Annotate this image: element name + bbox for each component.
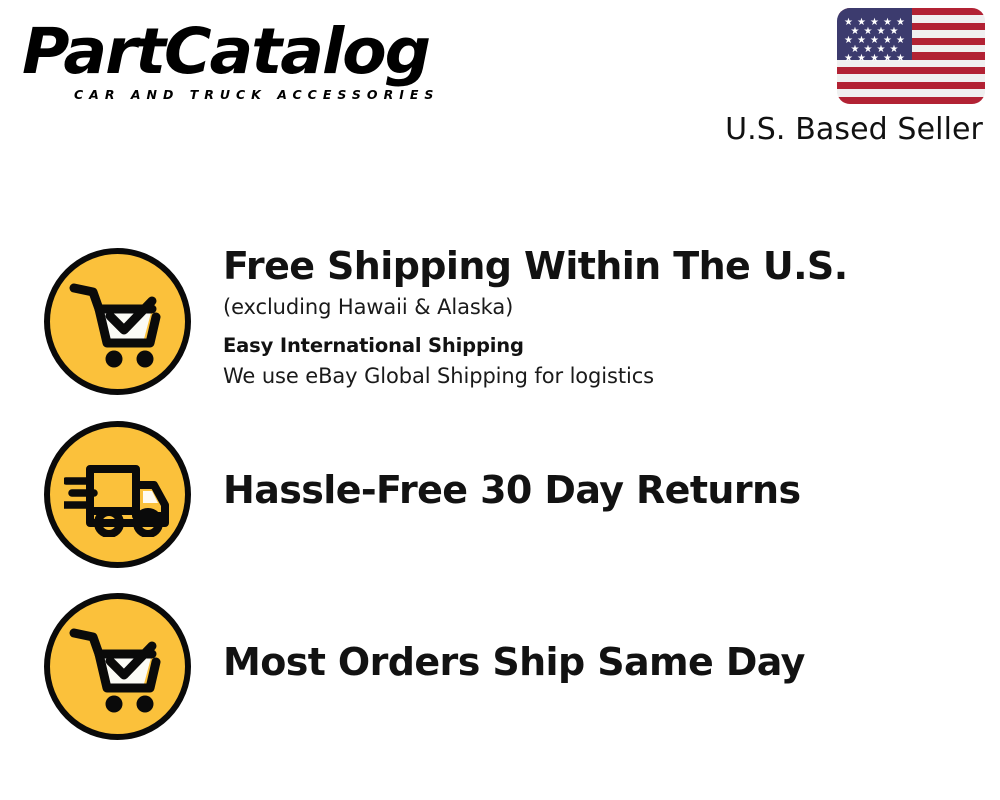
- feature-text-block: Hassle-Free 30 Day Returns: [223, 468, 983, 512]
- feature-title: Free Shipping Within The U.S.: [223, 244, 983, 288]
- feature-note: (excluding Hawaii & Alaska): [223, 292, 983, 322]
- shopping-cart-check-icon: [44, 248, 191, 395]
- feature-text-block: Free Shipping Within The U.S. (excluding…: [223, 244, 983, 391]
- feature-text-block: Most Orders Ship Same Day: [223, 640, 983, 684]
- delivery-truck-icon: [44, 421, 191, 568]
- feature-title: Most Orders Ship Same Day: [223, 640, 983, 684]
- feature-title: Hassle-Free 30 Day Returns: [223, 468, 983, 512]
- shopping-cart-check-icon: [44, 593, 191, 740]
- feature-list: Free Shipping Within The U.S. (excluding…: [0, 0, 1000, 800]
- shipping-info-banner: PartCatalog CAR AND TRUCK ACCESSORIES: [0, 0, 1000, 800]
- feature-subtitle-strong: Easy International Shipping: [223, 332, 983, 360]
- feature-subtitle: We use eBay Global Shipping for logistic…: [223, 361, 983, 391]
